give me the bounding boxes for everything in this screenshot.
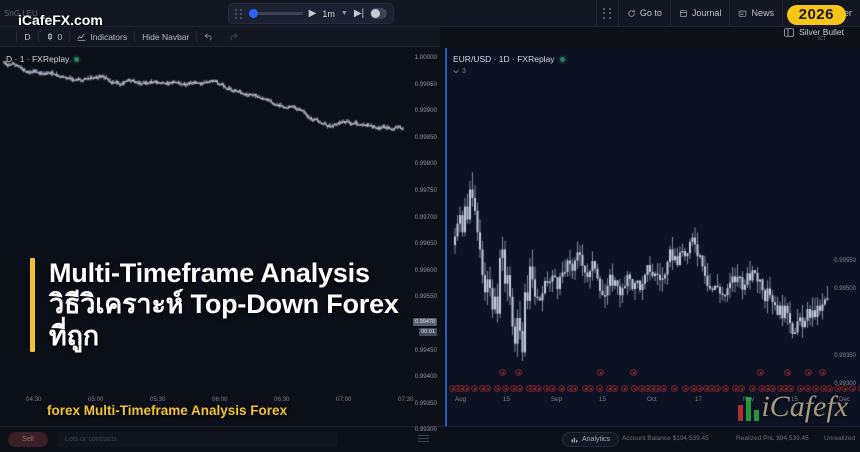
trade-marker[interactable]: [558, 385, 565, 392]
price-tick: 0.99900: [415, 107, 437, 114]
news-button[interactable]: News: [729, 0, 782, 27]
journal-icon: [679, 9, 688, 18]
trade-marker[interactable]: [805, 369, 812, 376]
price-tick: 1.00000: [415, 54, 437, 61]
title-line-2: วิธีวิเคราะห์ Top-Down Forex: [49, 289, 399, 320]
chart-toolbar: D 0 Indicators Hide Navbar: [0, 27, 440, 47]
sell-button[interactable]: Sell: [8, 432, 48, 447]
live-dot-icon: [560, 57, 565, 62]
trade-marker[interactable]: [696, 385, 703, 392]
subtitle-text: forex Multi-Timeframe Analysis Forex: [47, 403, 287, 418]
timeframe-d-button[interactable]: D: [17, 27, 37, 47]
trade-markers[interactable]: [447, 363, 860, 391]
time-tick: Aug: [455, 396, 466, 403]
redo-button[interactable]: [221, 27, 245, 47]
chevron-down-icon[interactable]: ▼: [341, 10, 348, 17]
trade-marker[interactable]: [631, 385, 638, 392]
logo-candles-icon: [738, 393, 759, 421]
live-dot-icon: [74, 57, 79, 62]
trade-marker[interactable]: [535, 385, 542, 392]
trade-marker[interactable]: [571, 385, 578, 392]
trade-marker[interactable]: [499, 369, 506, 376]
timeframe-d-label: D: [24, 32, 30, 42]
brand-watermark: iCafeFX.com: [18, 12, 103, 28]
trade-marker[interactable]: [757, 369, 764, 376]
time-tick: Sep: [551, 396, 562, 403]
slider-knob[interactable]: [249, 9, 258, 18]
goto-label: Go to: [640, 8, 662, 18]
goto-button[interactable]: Go to: [618, 0, 670, 27]
trade-marker[interactable]: [471, 385, 478, 392]
price-tick: 0.99550: [834, 258, 856, 264]
chevron-down-icon: [453, 69, 459, 74]
top-toolbar: SnG LEU Go to Journal: [0, 0, 860, 27]
time-tick: 17: [695, 396, 702, 403]
replay-playback-controls[interactable]: ▶ 1m ▼ ▶|: [228, 3, 394, 24]
price-tick: 0.99750: [415, 187, 437, 194]
silver-bullet-sublabel: ICT: [818, 36, 826, 42]
chart-right-sublabel[interactable]: 3: [453, 68, 466, 75]
time-tick: 04:30: [26, 396, 41, 403]
app-root: SnG LEU Go to Journal: [0, 0, 860, 452]
chart-left-header: D · 1 · FXReplay: [0, 48, 79, 70]
price-axis-right[interactable]: 0.995500.995000.993500.99300: [828, 48, 858, 426]
trade-marker[interactable]: [630, 369, 637, 376]
trade-marker[interactable]: [515, 369, 522, 376]
symbol-search-button[interactable]: [0, 27, 16, 47]
goto-icon: [627, 9, 636, 18]
trade-marker[interactable]: [516, 385, 523, 392]
trade-marker[interactable]: [587, 385, 594, 392]
trade-marker[interactable]: [671, 385, 678, 392]
chart-right-sub-text: 3: [462, 68, 466, 75]
trade-marker[interactable]: [597, 369, 604, 376]
icafefx-logo-watermark: iCafefx: [738, 392, 848, 422]
indicators-icon: [77, 32, 86, 41]
unrealized-pnl: Unrealized: [824, 435, 855, 442]
trade-marker[interactable]: [819, 369, 826, 376]
hamburger-icon[interactable]: [418, 435, 429, 444]
hide-navbar-button[interactable]: Hide Navbar: [135, 27, 196, 47]
trade-marker[interactable]: [722, 385, 729, 392]
journal-label: Journal: [692, 8, 722, 18]
chart-panel-left[interactable]: D · 1 · FXReplay: [0, 48, 440, 426]
trade-marker[interactable]: [596, 385, 603, 392]
price-tick: 0.99650: [415, 240, 437, 247]
price-tick: 0.99700: [415, 214, 437, 221]
price-tick: 0.99950: [415, 81, 437, 88]
candlestick-icon: [46, 32, 54, 41]
title-line-1: Multi-Timeframe Analysis: [49, 258, 399, 289]
price-tick: 0.99800: [415, 160, 437, 167]
logo-text: iCafefx: [761, 392, 848, 422]
toggle-switch-icon[interactable]: [370, 8, 387, 19]
time-tick: Oct: [647, 396, 657, 403]
time-tick: 05:00: [88, 396, 103, 403]
time-tick: 07:00: [336, 396, 351, 403]
time-tick: 15: [599, 396, 606, 403]
analytics-icon: [571, 436, 578, 443]
price-tick: 0.99850: [415, 134, 437, 141]
year-badge: 2026: [787, 5, 846, 25]
account-balance: Account Balance $194,539.45: [622, 435, 709, 442]
price-tick: 0.99300: [834, 381, 856, 387]
time-tick: 15: [503, 396, 510, 403]
realized-pnl: Realized PnL $94,539.45: [736, 435, 809, 442]
price-tick: 0.99350: [415, 400, 437, 407]
time-tick: 06:00: [212, 396, 227, 403]
redo-icon: [228, 33, 238, 41]
trade-marker[interactable]: [549, 385, 556, 392]
candle-style-button[interactable]: 0: [39, 27, 70, 47]
chart-right-header: EUR/USD · 1D · FXReplay: [447, 48, 565, 70]
trade-marker[interactable]: [611, 385, 618, 392]
trade-marker[interactable]: [484, 385, 491, 392]
grid-menu-icon[interactable]: [596, 0, 618, 27]
replay-speed-slider[interactable]: [249, 12, 303, 15]
step-forward-icon[interactable]: ▶|: [354, 9, 364, 19]
trade-marker[interactable]: [502, 385, 509, 392]
price-tick: 0.99400: [415, 373, 437, 380]
news-label: News: [751, 8, 774, 18]
hide-navbar-label: Hide Navbar: [142, 32, 189, 42]
time-tick: 05:30: [150, 396, 165, 403]
analytics-button[interactable]: Analytics: [562, 432, 619, 447]
title-overlay: Multi-Timeframe Analysis วิธีวิเคราะห์ T…: [30, 258, 550, 352]
trade-marker[interactable]: [494, 385, 501, 392]
title-line-3: ที่ถูก: [49, 321, 399, 352]
candle-style-suffix: 0: [58, 32, 63, 42]
panel-icon: [784, 28, 794, 37]
chart-panel-right[interactable]: EUR/USD · 1D · FXReplay 3: [445, 48, 860, 426]
silver-bullet-label[interactable]: Silver Bullet: [784, 27, 844, 37]
lots-placeholder: Lots or contracts: [65, 436, 117, 443]
journal-button[interactable]: Journal: [670, 0, 730, 27]
indicators-button[interactable]: Indicators: [70, 27, 134, 47]
trade-marker[interactable]: [463, 385, 470, 392]
trade-marker[interactable]: [784, 369, 791, 376]
chart-right-title: EUR/USD · 1D · FXReplay: [453, 54, 555, 64]
price-tick: 0.99500: [834, 286, 856, 292]
trade-marker[interactable]: [749, 385, 756, 392]
analytics-label: Analytics: [582, 436, 610, 443]
title-text-block: Multi-Timeframe Analysis วิธีวิเคราะห์ T…: [49, 258, 399, 352]
trade-marker[interactable]: [714, 385, 721, 392]
chart-left-canvas[interactable]: [0, 48, 440, 426]
lots-input[interactable]: Lots or contracts: [58, 432, 338, 447]
time-tick: 06:30: [274, 396, 289, 403]
chart-left-title: D · 1 · FXReplay: [6, 54, 69, 64]
price-axis-left[interactable]: 1.000000.999500.999000.998500.998000.997…: [405, 48, 440, 426]
trade-marker[interactable]: [621, 385, 628, 392]
timeframe-selector[interactable]: 1m: [322, 9, 335, 19]
trade-marker[interactable]: [682, 385, 689, 392]
drag-grip-icon[interactable]: [235, 8, 243, 20]
accent-bar: [30, 258, 35, 352]
play-icon[interactable]: ▶: [309, 9, 317, 19]
indicators-label: Indicators: [90, 32, 127, 42]
trade-marker[interactable]: [738, 385, 745, 392]
undo-button[interactable]: [197, 27, 221, 47]
trade-marker[interactable]: [660, 385, 667, 392]
price-tick: 0.99300: [415, 426, 437, 433]
price-tick: 0.99350: [834, 353, 856, 359]
undo-icon: [204, 33, 214, 41]
news-icon: [738, 9, 747, 18]
